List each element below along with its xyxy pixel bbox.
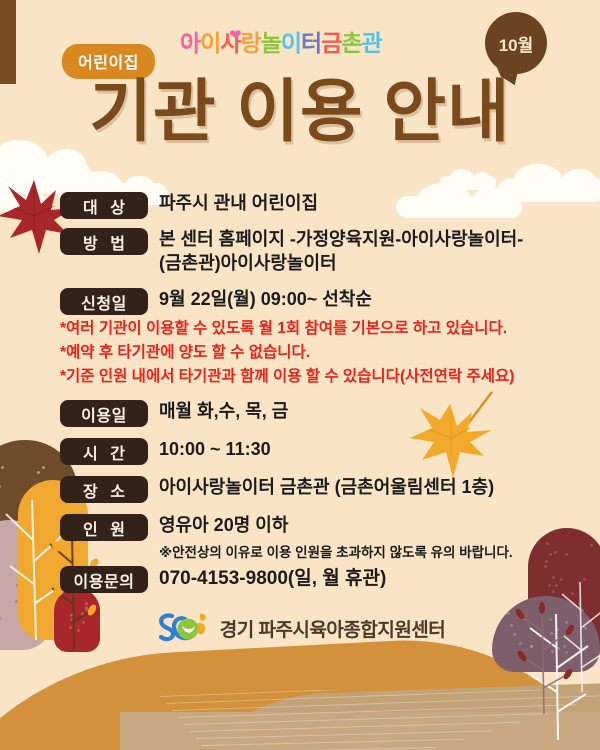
cloud-icon xyxy=(396,196,522,218)
row-label: 이용문의 xyxy=(60,566,148,593)
foliage-speck xyxy=(0,526,1,529)
foliage-speck xyxy=(85,606,88,609)
foliage-speck xyxy=(548,584,551,587)
row-label: 인 원 xyxy=(60,514,148,541)
row-note: ※안전상의 이유로 이용 인원을 초과하지 않도록 유의 바랍니다. xyxy=(159,541,513,561)
foliage-speck xyxy=(37,471,40,474)
foliage-speck xyxy=(35,510,38,513)
foliage-speck xyxy=(565,553,568,556)
cloud-icon xyxy=(0,160,92,194)
foliage-speck xyxy=(544,565,547,568)
maple-leaf-icon xyxy=(404,386,498,482)
foliage-speck xyxy=(15,600,18,603)
brand-logo-char-5: 이 xyxy=(281,32,301,55)
foliage-speck xyxy=(552,590,555,593)
foliage-speck xyxy=(27,602,30,605)
foliage-speck xyxy=(551,650,554,653)
foliage-speck xyxy=(545,560,548,563)
tree-trunk-top-left xyxy=(0,0,16,42)
notice-line: *여러 기관이 이용할 수 있도록 월 1회 참여를 기본으로 하고 있습니다. xyxy=(60,317,514,341)
foliage-speck xyxy=(42,466,45,469)
info-row-application-date: 신청일 9월 22일(월) 09:00~ 선착순 xyxy=(60,288,372,315)
row-label: 신청일 xyxy=(60,288,148,315)
foliage-speck xyxy=(549,553,552,556)
page-title: 기관 이용 안내 xyxy=(0,78,600,146)
info-row-contact: 이용문의 070-4153-9800(일, 월 휴관) xyxy=(60,566,386,593)
smile-face-icon xyxy=(181,38,191,48)
sc-logo-icon xyxy=(155,610,211,646)
heart-icon: ❤ xyxy=(229,28,242,43)
field-base xyxy=(120,712,600,750)
foliage-speck xyxy=(571,592,574,595)
foliage-speck xyxy=(557,647,560,650)
foliage-speck xyxy=(85,602,88,605)
branch-icon xyxy=(498,588,594,714)
notice-line: *기준 인원 내에서 타기관과 함께 이용 할 수 있습니다(사전연락 주세요) xyxy=(60,365,514,389)
info-row-capacity: 인 원 영유아 20명 이하 ※안전상의 이유로 이용 인원을 초과하지 않도록… xyxy=(60,514,513,561)
foliage-speck xyxy=(32,584,35,587)
cloud-icon xyxy=(440,176,496,190)
hill-tan xyxy=(146,677,600,750)
row-label: 방 법 xyxy=(60,228,148,255)
info-row-time: 시 간 10:00 ~ 11:30 xyxy=(60,438,271,465)
info-row-target: 대 상 파주시 관내 어린이집 xyxy=(60,192,318,219)
month-badge: 10월 xyxy=(485,12,547,74)
foliage-speck xyxy=(565,651,568,654)
brand-logo-char-8: 촌 xyxy=(341,32,361,55)
row-value-secondary: (금촌관)아이사랑놀이터 xyxy=(159,252,523,276)
foliage-speck xyxy=(555,584,558,587)
footer-organization-name: 경기 파주시육아종합지원센터 xyxy=(220,615,446,642)
row-value: 10:00 ~ 11:30 xyxy=(159,438,271,462)
hill-orange xyxy=(0,628,600,750)
poster-root: 어린이집 아이사랑놀이터금촌관 ❤ 10월 기관 이용 안내 대 상 파주시 관… xyxy=(0,0,600,750)
brand-logo-char-4: 놀 xyxy=(261,32,281,55)
brand-logo-char-3: 랑 xyxy=(241,32,261,55)
row-value: 본 센터 홈페이지 -가정양육지원-아이사랑놀이터- xyxy=(159,228,523,252)
foliage-speck xyxy=(546,542,549,545)
foliage-speck xyxy=(590,544,593,547)
row-label: 시 간 xyxy=(60,438,148,465)
foliage-speck xyxy=(560,578,563,581)
foliage-speck xyxy=(554,551,557,554)
row-label: 대 상 xyxy=(60,192,148,219)
cloud-icon xyxy=(0,196,52,212)
row-value: 파주시 관내 어린이집 xyxy=(159,192,318,216)
foliage-speck xyxy=(547,606,550,609)
notice-line: *예약 후 타기관에 양도 할 수 없습니다. xyxy=(60,341,514,365)
foliage-speck xyxy=(1,466,4,469)
info-row-usage-days: 이용일 매월 화,수, 목, 금 xyxy=(60,400,288,427)
row-value: 9월 22일(월) 09:00~ 선착순 xyxy=(159,288,372,312)
row-value: 매월 화,수, 목, 금 xyxy=(159,400,288,424)
row-value: 영유아 20명 이하 xyxy=(159,514,513,538)
brand-logo-char-6: 터 xyxy=(301,32,321,55)
foliage-speck xyxy=(552,576,555,579)
notice-list: *여러 기관이 이용할 수 있도록 월 1회 참여를 기본으로 하고 있습니다.… xyxy=(60,317,514,390)
footer: 경기 파주시육아종합지원센터 xyxy=(0,610,600,646)
foliage-speck xyxy=(578,602,581,605)
info-row-method: 방 법 본 센터 홈페이지 -가정양육지원-아이사랑놀이터- (금촌관)아이사랑… xyxy=(60,228,523,276)
brand-logo-char-1: 이 xyxy=(200,32,220,55)
foliage-speck xyxy=(583,578,586,581)
brand-logo-char-7: 금 xyxy=(321,32,341,55)
info-row-location: 장 소 아이사랑놀이터 금촌관 (금촌어울림센터 1층) xyxy=(60,476,494,503)
row-label: 장 소 xyxy=(60,476,148,503)
row-label: 이용일 xyxy=(60,400,148,427)
foliage-speck xyxy=(37,574,40,577)
foliage-speck xyxy=(16,584,19,587)
foliage-speck xyxy=(45,522,48,525)
foliage-speck xyxy=(0,485,1,488)
row-value: 아이사랑놀이터 금촌관 (금촌어울림센터 1층) xyxy=(159,476,494,500)
foliage-speck xyxy=(9,537,12,540)
brand-logo-char-9: 관 xyxy=(362,32,382,55)
brand-logo: 아이사랑놀이터금촌관 xyxy=(180,32,382,55)
row-value: 070-4153-9800(일, 월 휴관) xyxy=(159,566,386,591)
foliage-speck xyxy=(9,539,12,542)
foliage-speck xyxy=(53,537,56,540)
foliage-speck xyxy=(28,557,31,560)
cloud-icon xyxy=(498,178,600,202)
field-furrow-lines xyxy=(160,690,600,750)
